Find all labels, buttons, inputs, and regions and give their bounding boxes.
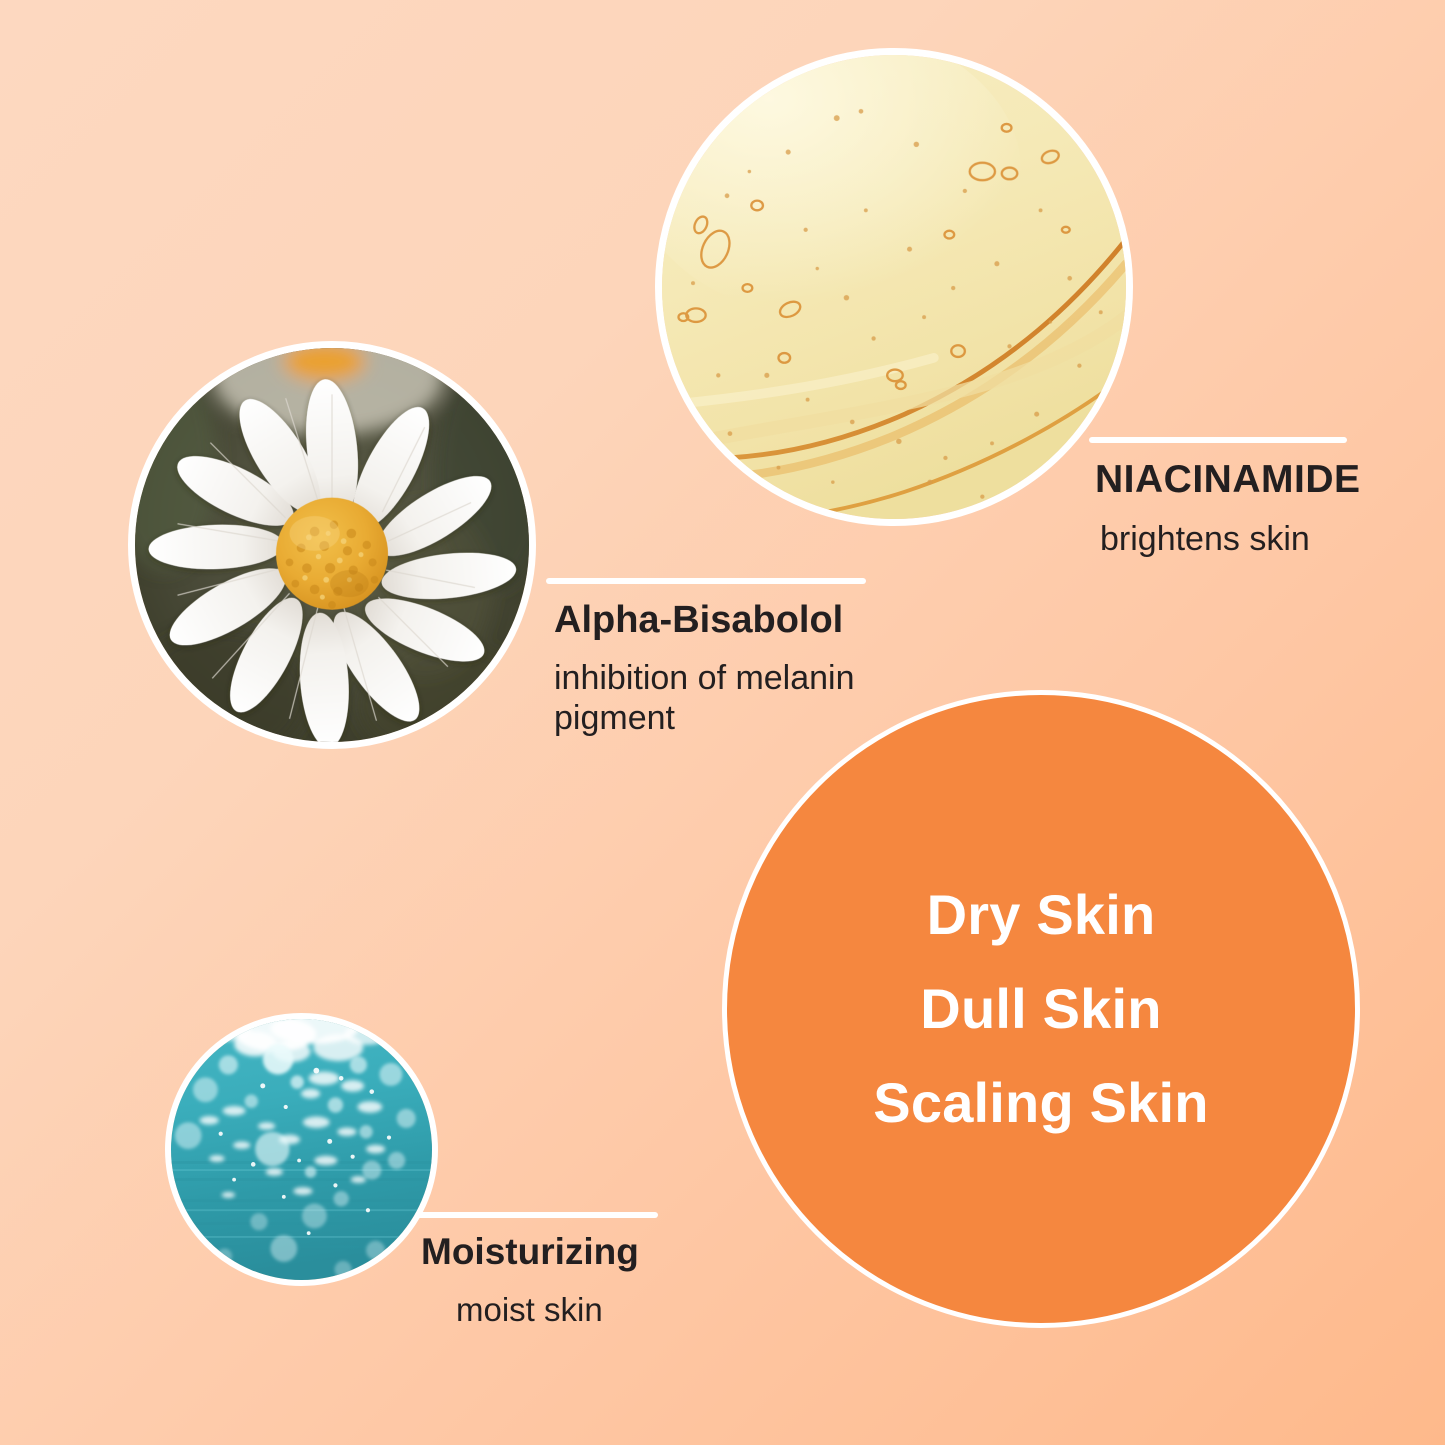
ingredient-benefit-bisabolol: inhibition of melanin pigment [554, 658, 899, 738]
skin-concern-item: Scaling Skin [873, 1075, 1208, 1131]
ingredient-title-moisturizing: Moisturizing [421, 1233, 692, 1272]
ingredient-image-niacinamide [655, 48, 1133, 526]
callout-rule-moisturizing [415, 1212, 658, 1218]
serum-gel-texture-icon [662, 55, 1126, 519]
ingredient-benefit-moisturizing: moist skin [456, 1291, 692, 1330]
callout-rule-niacinamide [1089, 437, 1347, 443]
skin-concern-item: Dull Skin [920, 981, 1161, 1037]
ingredient-image-bisabolol [128, 341, 536, 749]
ingredient-benefit-niacinamide: brightens skin [1100, 519, 1425, 559]
infographic-canvas: NIACINAMIDE brightens skin [0, 0, 1445, 1445]
callout-rule-bisabolol [546, 578, 866, 584]
skin-concern-item: Dry Skin [927, 887, 1156, 943]
ingredient-title-niacinamide: NIACINAMIDE [1095, 460, 1425, 501]
callout-moisturizing: Moisturizing moist skin [412, 1212, 692, 1330]
skin-concerns-bubble: Dry Skin Dull Skin Scaling Skin [722, 690, 1360, 1328]
chamomile-daisy-flower-icon [135, 348, 529, 742]
ingredient-image-moisturizing [165, 1013, 438, 1286]
callout-niacinamide: NIACINAMIDE brightens skin [1085, 437, 1425, 559]
callout-bisabolol: Alpha-Bisabolol inhibition of melanin pi… [542, 578, 942, 738]
ingredient-title-bisabolol: Alpha-Bisabolol [554, 601, 942, 641]
water-bubbles-texture-icon [171, 1019, 432, 1280]
